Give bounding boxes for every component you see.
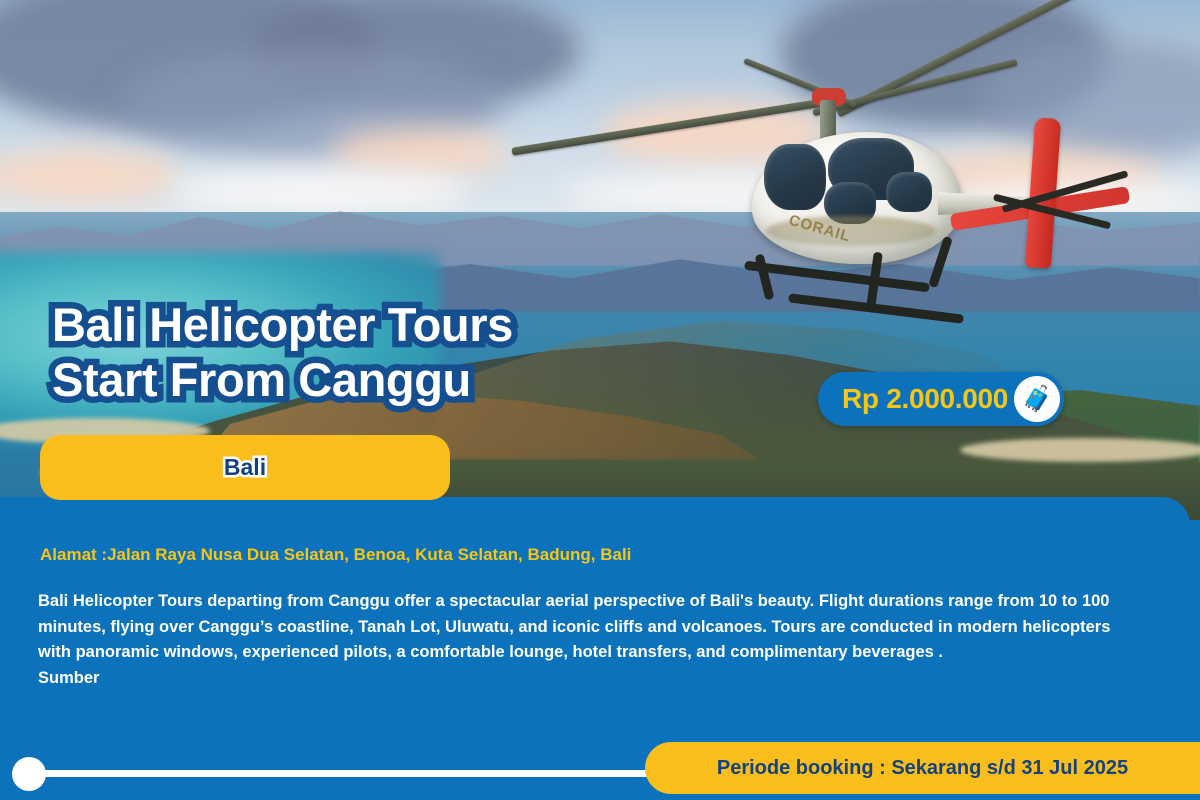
promo-poster: CORAIL Bali Helicopter Tours Start From …: [0, 0, 1200, 800]
skid-strut-1: [755, 254, 775, 301]
location-badge[interactable]: Bali: [40, 435, 450, 500]
rotor-blade-short: [812, 59, 1017, 117]
beach-strip-right: [960, 438, 1200, 462]
cabin-window-right: [886, 172, 932, 212]
address-value: Jalan Raya Nusa Dua Selatan, Benoa, Kuta…: [107, 545, 631, 564]
luggage-icon: 🧳: [1014, 376, 1060, 422]
price-badge[interactable]: Rp 2.000.000 🧳: [818, 372, 1064, 426]
address-line: Alamat :Jalan Raya Nusa Dua Selatan, Ben…: [40, 545, 631, 565]
description-text: Bali Helicopter Tours departing from Can…: [38, 592, 1110, 661]
cloud-white-1: [170, 168, 470, 216]
timeline-dot: [12, 757, 46, 791]
cockpit-window-left: [764, 144, 826, 210]
booking-period-badge[interactable]: Periode booking : Sekarang s/d 31 Jul 20…: [645, 742, 1200, 794]
timeline-rule: [40, 770, 652, 777]
price-amount: Rp 2.000.000: [842, 383, 1008, 415]
title-line-1: Bali Helicopter Tours: [52, 298, 513, 353]
title-line-2: Start From Canggu: [52, 353, 513, 408]
helicopter: CORAIL: [700, 40, 1120, 370]
booking-period-label: Periode booking : Sekarang s/d 31 Jul 20…: [717, 757, 1128, 780]
page-title: Bali Helicopter Tours Start From Canggu: [52, 298, 513, 407]
source-label: Sumber: [38, 669, 99, 687]
description-block: Bali Helicopter Tours departing from Can…: [38, 589, 1138, 692]
location-badge-label: Bali: [224, 454, 266, 481]
address-label: Alamat :: [40, 545, 107, 564]
